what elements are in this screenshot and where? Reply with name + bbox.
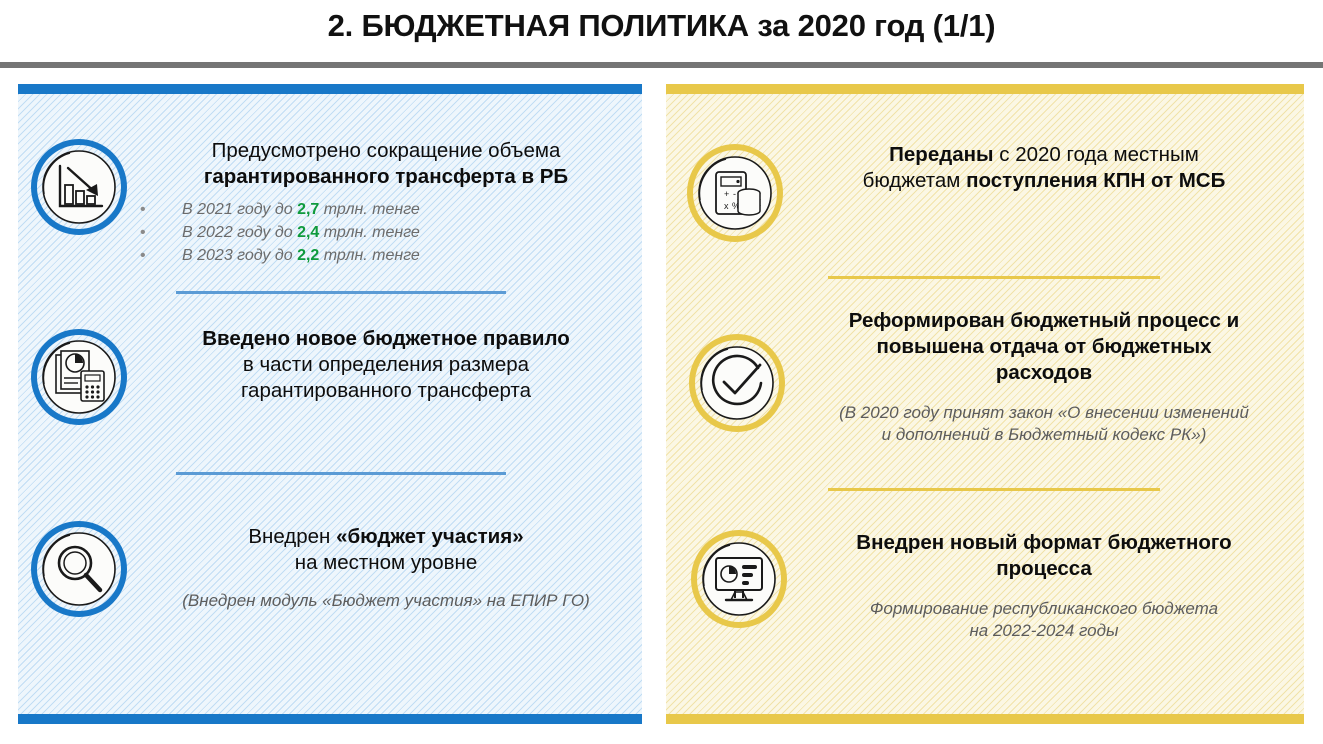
document-calculator-icon	[30, 328, 128, 426]
right-panel-body: + - x % Переданы с 2020 года местным бюд…	[666, 94, 1304, 714]
left-divider-2	[176, 472, 506, 475]
left-block-transfer-reduction: Предусмотрено сокращение объема гарантир…	[18, 94, 642, 306]
right-block-budget-process-reform: Реформирован бюджетный процесс и повышен…	[666, 294, 1304, 506]
svg-text:-: -	[733, 189, 736, 199]
right-block-1-text: Переданы с 2020 года местным бюджетам по…	[794, 142, 1294, 194]
value-2023: 2,2	[297, 247, 319, 264]
left-divider-1	[176, 291, 506, 294]
left-panel-top-bar	[18, 84, 642, 94]
left-panel-bottom-bar	[18, 714, 642, 724]
value-2021: 2,7	[297, 201, 319, 218]
value-2022: 2,4	[297, 224, 319, 241]
calculator-coins-icon: + - x %	[686, 144, 784, 242]
left-block-1-text: Предусмотрено сокращение объема гарантир…	[138, 138, 634, 267]
list-item: В 2021 году до 2,7 трлн. тенге	[138, 198, 634, 221]
left-block-3-text: Внедрен «бюджет участия» на местном уров…	[138, 524, 634, 612]
right-block-new-budget-format: Внедрен новый формат бюджетного процесса…	[666, 506, 1304, 686]
right-block-2-note: (В 2020 году принят закон «О внесении из…	[794, 402, 1294, 446]
right-divider-1	[828, 276, 1160, 279]
check-circle-icon	[688, 334, 786, 432]
right-block-2-text: Реформирован бюджетный процесс и повышен…	[794, 308, 1294, 446]
left-block-2-headline: Введено новое бюджетное правило в части …	[138, 326, 634, 404]
right-block-2-headline: Реформирован бюджетный процесс и повышен…	[794, 308, 1294, 386]
left-block-1-headline: Предусмотрено сокращение объема гарантир…	[138, 138, 634, 190]
declining-bar-chart-icon	[30, 138, 128, 236]
magnifier-icon	[30, 520, 128, 618]
right-block-3-text: Внедрен новый формат бюджетного процесса…	[794, 530, 1294, 642]
transfer-values-list: В 2021 году до 2,7 трлн. тенге В 2022 го…	[138, 198, 634, 267]
right-block-1-headline: Переданы с 2020 года местным бюджетам по…	[794, 142, 1294, 194]
list-item: В 2023 году до 2,2 трлн. тенге	[138, 244, 634, 267]
svg-text:x: x	[724, 201, 729, 211]
left-block-3-headline: Внедрен «бюджет участия» на местном уров…	[138, 524, 634, 576]
right-block-3-note: Формирование республиканского бюджета на…	[794, 598, 1294, 642]
left-block-participatory-budget: Внедрен «бюджет участия» на местном уров…	[18, 494, 642, 674]
left-block-3-note: (Внедрен модуль «Бюджет участия» на ЕПИР…	[138, 590, 634, 612]
left-panel: Предусмотрено сокращение объема гарантир…	[18, 84, 642, 724]
right-divider-2	[828, 488, 1160, 491]
monitor-dashboard-icon	[690, 530, 788, 628]
right-panel-top-bar	[666, 84, 1304, 94]
left-panel-body: Предусмотрено сокращение объема гарантир…	[18, 94, 642, 714]
right-block-3-headline: Внедрен новый формат бюджетного процесса	[794, 530, 1294, 582]
right-panel-bottom-bar	[666, 714, 1304, 724]
svg-text:+: +	[724, 189, 729, 199]
right-panel: + - x % Переданы с 2020 года местным бюд…	[666, 84, 1304, 724]
left-block-2-text: Введено новое бюджетное правило в части …	[138, 326, 634, 404]
left-block-budget-rule: Введено новое бюджетное правило в части …	[18, 306, 642, 494]
title-divider	[0, 62, 1323, 68]
list-item: В 2022 году до 2,4 трлн. тенге	[138, 221, 634, 244]
right-block-kpn-transfer: + - x % Переданы с 2020 года местным бюд…	[666, 94, 1304, 294]
page-title: 2. БЮДЖЕТНАЯ ПОЛИТИКА за 2020 год (1/1)	[0, 8, 1323, 44]
